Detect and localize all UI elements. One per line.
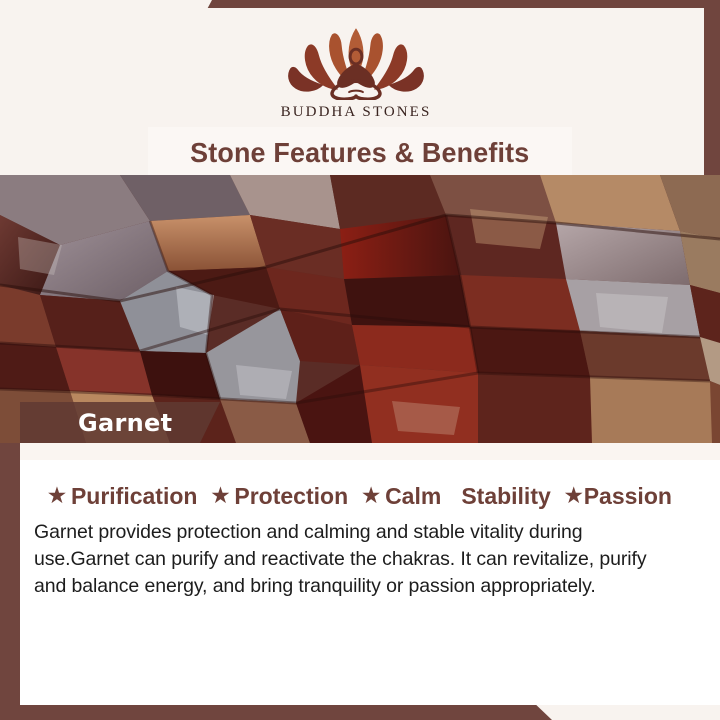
benefit-purification: ★ Purification bbox=[48, 483, 197, 510]
lotus-meditation-figure-icon bbox=[282, 26, 430, 100]
benefit-calm: ★ Calm bbox=[362, 483, 441, 510]
benefit-passion: ★ Passion bbox=[565, 483, 672, 510]
stone-name-tag: Garnet bbox=[20, 402, 220, 443]
benefit-protection: ★ Protection bbox=[211, 483, 348, 510]
infographic-page: BUDDHA STONES Stone Features & Benefits bbox=[0, 0, 720, 720]
star-icon: ★ bbox=[362, 486, 380, 506]
star-icon: ★ bbox=[565, 486, 583, 506]
benefit-label: Stability bbox=[461, 483, 550, 510]
star-icon: ★ bbox=[211, 486, 229, 506]
benefits-list: ★ Purification ★ Protection ★ Calm Stabi… bbox=[48, 480, 678, 512]
benefit-stability: Stability bbox=[461, 483, 550, 510]
page-title: Stone Features & Benefits bbox=[190, 137, 529, 169]
stone-description: Garnet provides protection and calming a… bbox=[34, 519, 682, 600]
benefit-label: Calm bbox=[385, 483, 441, 510]
stone-name-label: Garnet bbox=[78, 409, 172, 437]
title-plate: Stone Features & Benefits bbox=[148, 127, 572, 179]
benefit-label: Protection bbox=[234, 483, 348, 510]
star-icon: ★ bbox=[48, 486, 66, 506]
brand-name: BUDDHA STONES bbox=[281, 104, 432, 121]
brand-logo: BUDDHA STONES bbox=[8, 26, 704, 121]
benefit-label: Purification bbox=[71, 483, 198, 510]
benefit-label: Passion bbox=[584, 483, 672, 510]
panel-top-strip bbox=[20, 443, 720, 460]
